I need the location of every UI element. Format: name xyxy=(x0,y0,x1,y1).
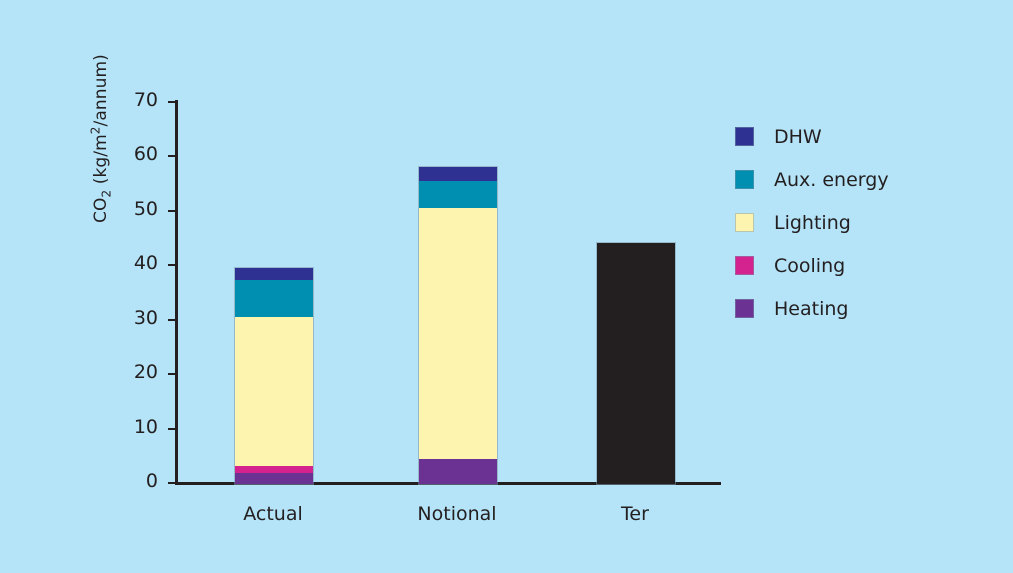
y-tick-mark xyxy=(168,210,176,212)
bar-segment-heating[interactable] xyxy=(235,473,313,484)
bar-segment-cooling[interactable] xyxy=(235,466,313,474)
legend-label: Heating xyxy=(774,298,848,320)
y-axis-title-text: CO2 (kg/m2/annum) xyxy=(91,54,111,223)
y-tick-mark xyxy=(168,319,176,321)
bar-segment-aux-energy[interactable] xyxy=(419,181,497,208)
y-tick-mark xyxy=(168,101,176,103)
x-tick-label-actual: Actual xyxy=(212,503,334,525)
legend-item-cooling[interactable]: Cooling xyxy=(735,244,975,287)
legend-swatch-icon xyxy=(735,299,754,318)
legend-label: Aux. energy xyxy=(774,169,889,191)
chart-figure: 010203040506070 CO2 (kg/m2/annum) Actual… xyxy=(0,0,1013,573)
bar-stack[interactable] xyxy=(596,242,676,485)
legend-label: Cooling xyxy=(774,255,845,277)
bar-segment-dhw[interactable] xyxy=(235,268,313,281)
bar-segment-lighting[interactable] xyxy=(235,317,313,465)
y-tick-mark xyxy=(168,482,176,484)
bar-stack[interactable] xyxy=(418,166,498,485)
legend-swatch-icon xyxy=(735,256,754,275)
legend-swatch-icon xyxy=(735,127,754,146)
legend-label: Lighting xyxy=(774,212,851,234)
legend-swatch-icon xyxy=(735,213,754,232)
chart-legend: DHWAux. energyLightingCoolingHeating xyxy=(735,115,975,330)
legend-item-dhw[interactable]: DHW xyxy=(735,115,975,158)
y-tick-mark xyxy=(168,428,176,430)
y-tick-mark xyxy=(168,373,176,375)
bar-segment-lighting[interactable] xyxy=(419,208,497,459)
legend-item-lighting[interactable]: Lighting xyxy=(735,201,975,244)
x-tick-label-ter: Ter xyxy=(574,503,696,525)
y-tick-mark xyxy=(168,264,176,266)
legend-item-heating[interactable]: Heating xyxy=(735,287,975,330)
bar-segment-heating[interactable] xyxy=(419,459,497,484)
bar-segment-ter[interactable] xyxy=(597,243,675,484)
legend-item-aux-energy[interactable]: Aux. energy xyxy=(735,158,975,201)
y-tick-mark xyxy=(168,155,176,157)
bar-stack[interactable] xyxy=(234,267,314,485)
bar-segment-dhw[interactable] xyxy=(419,167,497,181)
x-tick-label-notional: Notional xyxy=(396,503,518,525)
legend-label: DHW xyxy=(774,126,822,148)
legend-swatch-icon xyxy=(735,170,754,189)
y-axis-title: CO2 (kg/m2/annum) xyxy=(88,23,112,223)
bar-segment-aux-energy[interactable] xyxy=(235,280,313,317)
